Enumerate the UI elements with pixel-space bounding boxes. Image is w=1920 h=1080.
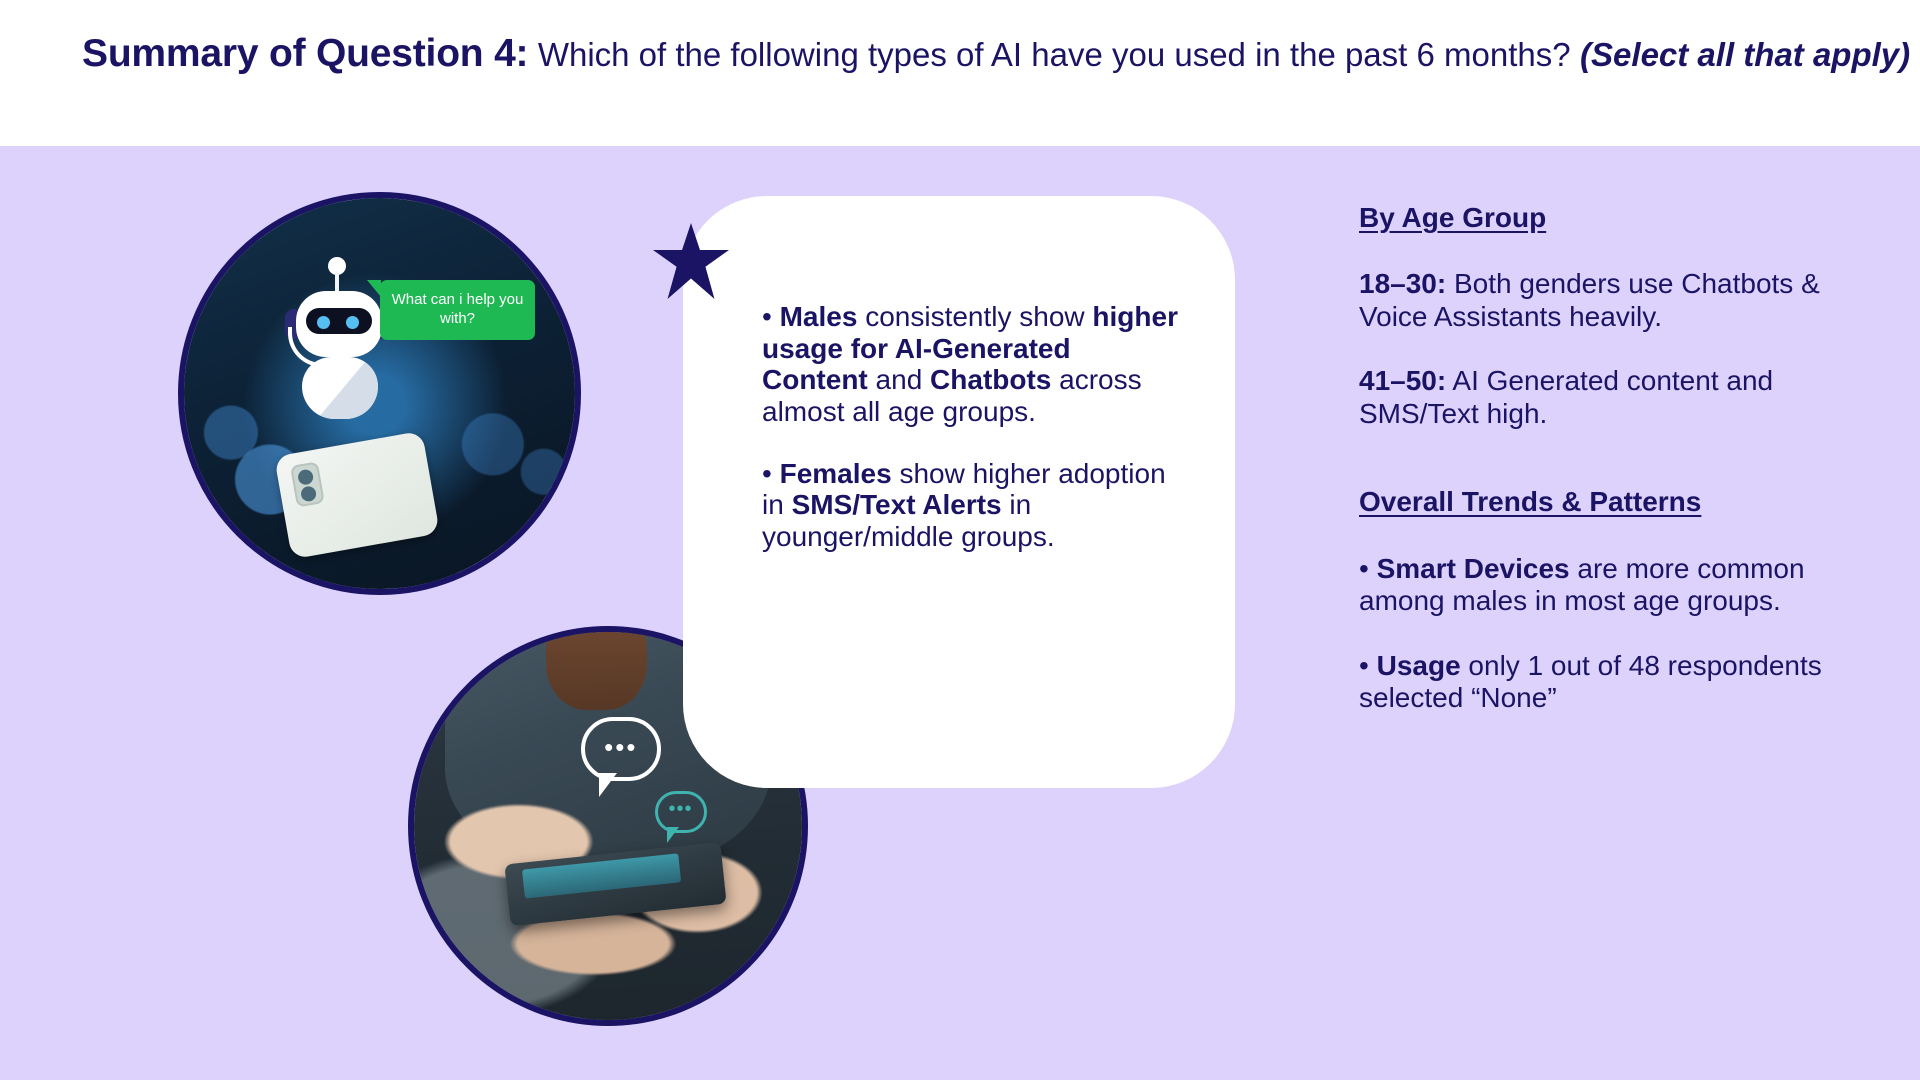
age-18-30-label: 18–30: [1359,268,1446,299]
insights-text: • Males consistently show higher usage f… [762,301,1182,552]
insight-chatbots-label: Chatbots [930,364,1051,395]
insights-callout-card: • Males consistently show higher usage f… [683,196,1235,788]
insight-sms-label: SMS/Text Alerts [792,489,1002,520]
insight-bullet-females: • Females show higher adoption in SMS/Te… [762,458,1182,553]
bullet-glyph-4: • [1359,650,1377,681]
typing-dots-small-icon: ••• [658,806,704,812]
content-panel: What can i help you with? ••• ••• • Male… [0,146,1920,1080]
summary-column: By Age Group 18–30: Both genders use Cha… [1359,202,1879,747]
bullet-glyph-3: • [1359,553,1377,584]
robot-eye-right-icon [346,316,359,329]
trend-usage-none: • Usage only 1 out of 48 respondents sel… [1359,650,1879,715]
chat-bubble-outline-icon: ••• [581,717,661,781]
bullet-glyph-2: • [762,458,780,489]
column-spacer [1359,462,1879,486]
robot-body-shade [302,357,378,419]
age-group-18-30: 18–30: Both genders use Chatbots & Voice… [1359,268,1879,333]
usage-label: Usage [1377,650,1461,681]
slide-root: Summary of Question 4: Which of the foll… [0,0,1920,1080]
chat-bubble-green: What can i help you with? [380,280,535,340]
bullet-glyph: • [762,301,780,332]
heading-by-age-group: By Age Group [1359,202,1879,234]
insight-females-label: Females [780,458,892,489]
insight-males-text-2: and [868,364,930,395]
smart-devices-label: Smart Devices [1377,553,1570,584]
chatbot-photo: What can i help you with? [178,192,581,595]
insight-bullet-males: • Males consistently show higher usage f… [762,301,1182,428]
hair-shape [546,626,647,710]
header-note: (Select all that apply) [1580,36,1910,73]
age-group-41-50: 41–50: AI Generated content and SMS/Text… [1359,365,1879,430]
page-title: Summary of Question 4: [82,32,528,75]
header-text-line: Summary of Question 4: Which of the foll… [82,33,1910,76]
typing-dots-icon: ••• [585,743,657,751]
age-41-50-label: 41–50: [1359,365,1446,396]
insight-males-text-1: consistently show [857,301,1092,332]
header-question: Which of the following types of AI have … [538,36,1571,73]
trend-smart-devices: • Smart Devices are more common among ma… [1359,553,1879,618]
header-bar: Summary of Question 4: Which of the foll… [0,0,1920,146]
heading-overall-trends: Overall Trends & Patterns [1359,486,1879,518]
chat-bubble-small-outline-icon: ••• [655,791,707,833]
insight-males-label: Males [780,301,858,332]
